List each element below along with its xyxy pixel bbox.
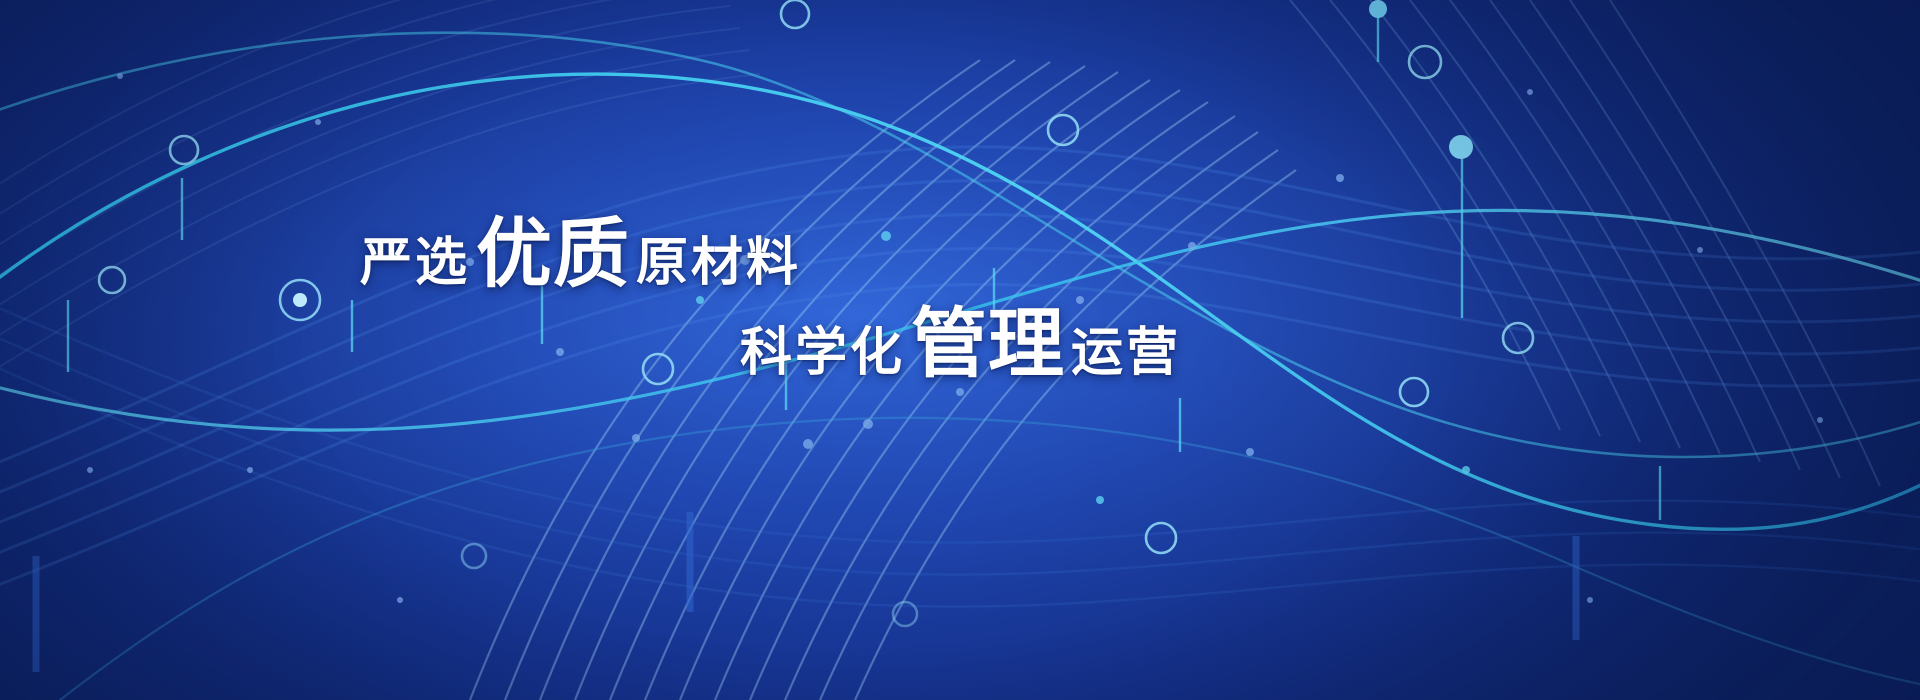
- scatter-dots-decoration: [0, 0, 1920, 700]
- hero-banner: 严选优质原材料 科学化管理运营: [0, 0, 1920, 700]
